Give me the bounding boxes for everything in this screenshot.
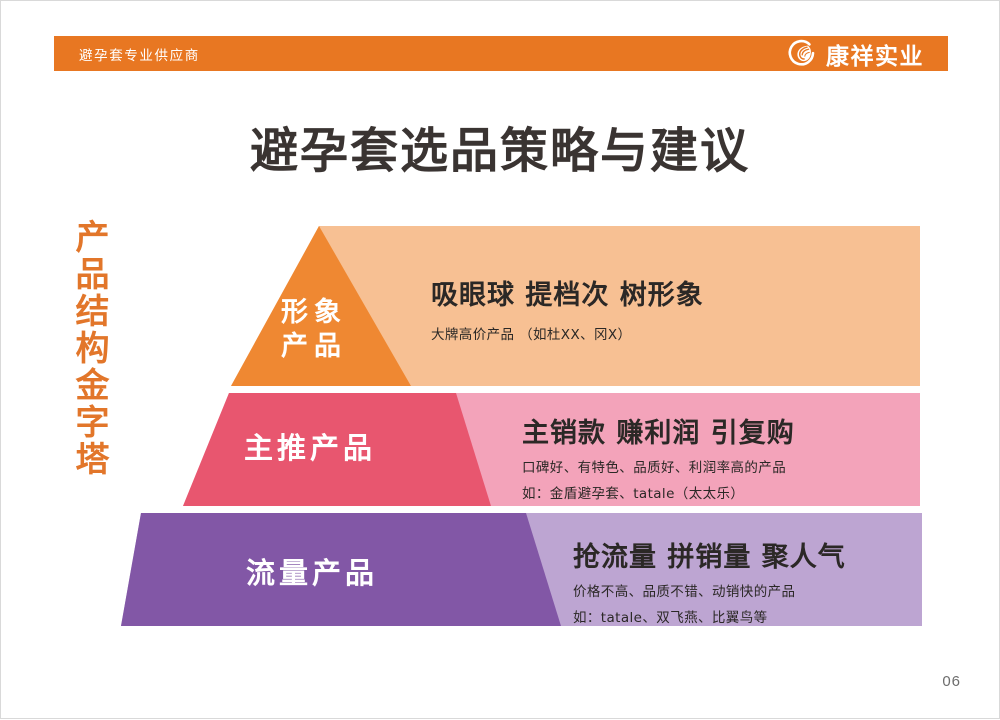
page-title: 避孕套选品策略与建议 bbox=[1, 111, 999, 181]
side-label-product-pyramid: 产品结构金字塔 bbox=[61, 219, 107, 478]
header-tagline: 避孕套专业供应商 bbox=[79, 44, 200, 64]
slide-root: 避孕套专业供应商 康祥实业 避孕套选品策略与建议 产品结构金字塔 bbox=[0, 0, 1000, 719]
tier-headline-image-product: 吸眼球 提档次 树形象 bbox=[431, 273, 704, 312]
tier-subtext-main-push-product-1: 口碑好、有特色、品质好、利润率高的产品 bbox=[522, 456, 795, 476]
swirl-leaf-emblem-icon bbox=[787, 39, 817, 69]
tier-body-main-push-product: 主销款 赚利润 引复购 口碑好、有特色、品质好、利润率高的产品 如：金盾避孕套、… bbox=[522, 411, 795, 502]
tier-headline-main-push-product: 主销款 赚利润 引复购 bbox=[522, 411, 795, 450]
tier-body-traffic-product: 抢流量 拼销量 聚人气 价格不高、品质不错、动销快的产品 如：tatale、双飞… bbox=[573, 535, 846, 626]
tier-subtext-main-push-product-2: 如：金盾避孕套、tatale（太太乐） bbox=[522, 482, 795, 502]
tier-subtext-traffic-product-1: 价格不高、品质不错、动销快的产品 bbox=[573, 580, 846, 600]
tier-label-image-product: 形象 产品 bbox=[281, 296, 347, 364]
tier-label-image-product-line1: 形象 bbox=[281, 296, 347, 330]
pyramid-graphic bbox=[1, 1, 1000, 720]
brand-block: 康祥实业 bbox=[787, 37, 924, 71]
tier-label-image-product-line2: 产品 bbox=[281, 330, 347, 364]
tier-headline-traffic-product: 抢流量 拼销量 聚人气 bbox=[573, 535, 846, 574]
header-bar: 避孕套专业供应商 康祥实业 bbox=[54, 36, 948, 71]
brand-name: 康祥实业 bbox=[826, 37, 924, 71]
tier-body-image-product: 吸眼球 提档次 树形象 大牌高价产品 （如杜XX、冈X） bbox=[431, 273, 704, 343]
tier-label-main-push-product: 主推产品 bbox=[244, 425, 376, 467]
tier-label-traffic-product: 流量产品 bbox=[246, 550, 378, 592]
tier-subtext-image-product-1: 大牌高价产品 （如杜XX、冈X） bbox=[431, 323, 704, 343]
page-number: 06 bbox=[942, 673, 961, 690]
tier-subtext-traffic-product-2: 如：tatale、双飞燕、比翼鸟等 bbox=[573, 606, 846, 626]
